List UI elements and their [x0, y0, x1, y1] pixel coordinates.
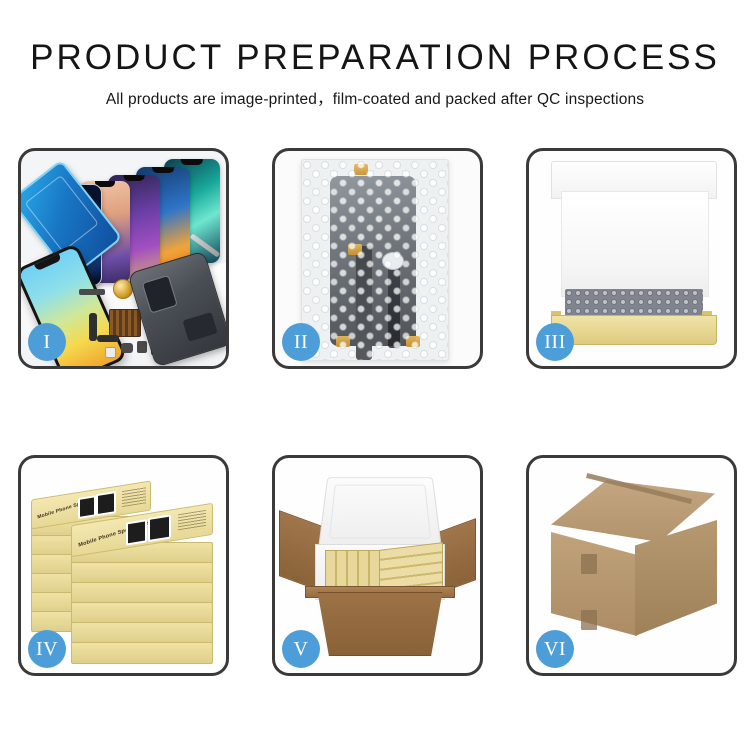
tape-piece-2: [348, 244, 362, 255]
foam-lid: [318, 477, 442, 548]
step-panel-2: II: [272, 148, 483, 369]
flex-cable-1: [89, 313, 97, 341]
small-part-3: [105, 347, 116, 358]
phone-notch: [181, 159, 203, 165]
box-window-front-2: [148, 514, 171, 542]
page-title: PRODUCT PREPARATION PROCESS: [0, 38, 750, 78]
step-badge-2: II: [282, 323, 320, 361]
step-badge-6: VI: [536, 630, 574, 668]
step-panel-6: VI: [526, 455, 737, 676]
stacked-box-b2: [71, 562, 213, 584]
stacked-box-b4: [71, 602, 213, 624]
small-part-2: [137, 341, 147, 353]
small-part-1: [121, 343, 133, 353]
step-badge-5: V: [282, 630, 320, 668]
phone-notch: [152, 167, 174, 173]
stacked-box-b5: [71, 622, 213, 644]
box-window-front-1: [126, 519, 147, 545]
phone-notch: [34, 254, 62, 271]
tape-piece-3: [336, 336, 350, 347]
box-spec-lines-front: [178, 510, 206, 532]
step-panel-4: Mobile Phone Spare Parts Mobile Phone Sp…: [18, 455, 229, 676]
tape-piece-1: [354, 164, 368, 175]
step-panel-1: I: [18, 148, 229, 369]
step-badge-1: I: [28, 323, 66, 361]
phone-notch: [124, 175, 145, 181]
box-front-panel: [551, 315, 717, 345]
tape-piece-4: [406, 336, 420, 347]
chip-grid-component: [109, 309, 141, 337]
foam-insert: [561, 191, 709, 297]
step-panel-5: V: [272, 455, 483, 676]
page-header: PRODUCT PREPARATION PROCESS All products…: [0, 0, 750, 109]
flex-cable-2: [97, 335, 119, 342]
carton-tape-upper: [581, 554, 597, 574]
box-spec-lines-back: [122, 487, 146, 507]
box-window-back-2: [96, 491, 116, 516]
process-steps-grid: I II III: [18, 148, 740, 676]
bubble-wrap-bag: [301, 159, 449, 361]
part-strip: [79, 289, 105, 295]
carton-front-panel: [309, 592, 451, 656]
box-window-back-1: [78, 495, 96, 519]
page-subtitle: All products are image-printed，film-coat…: [0, 87, 750, 109]
carton-tape-lower: [581, 610, 597, 630]
step-panel-3: III: [526, 148, 737, 369]
step-badge-3: III: [536, 323, 574, 361]
step-badge-4: IV: [28, 630, 66, 668]
stacked-box-b3: [71, 582, 213, 604]
screen-connector: [382, 252, 404, 270]
stacked-box-b6: [71, 642, 213, 664]
